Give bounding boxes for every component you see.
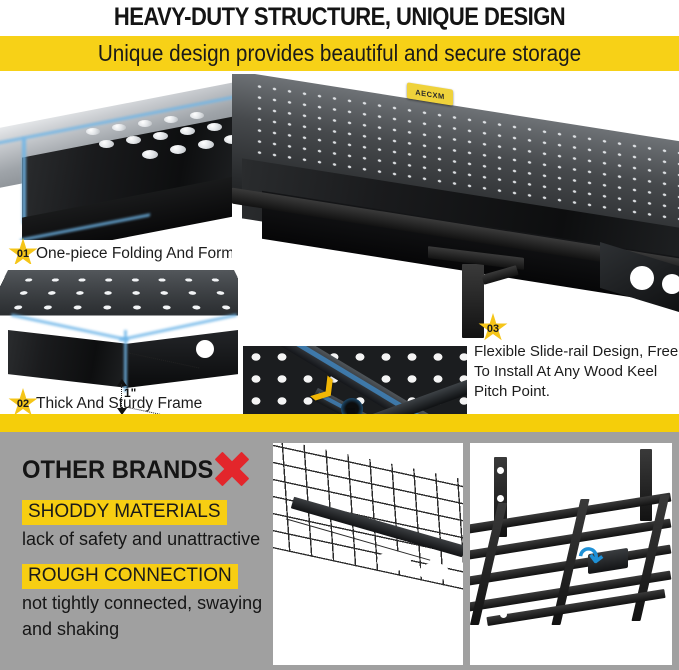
page-subtitle: Unique design provides beautiful and sec…	[34, 36, 645, 71]
comparison-heading-2: ROUGH CONNECTION	[22, 564, 238, 589]
feature-label-02: Thick And Sturdy Frame	[36, 395, 202, 413]
feature-label-01: One-piece Folding And Forming	[36, 245, 255, 263]
feature-label-03: Flexible Slide-rail Design, Free To Inst…	[474, 342, 679, 402]
infographic-page: HEAVY-DUTY STRUCTURE, UNIQUE DESIGN Uniq…	[0, 0, 679, 670]
photo-other-brand-mesh	[273, 443, 463, 665]
comparison-description-1: lack of safety and unattractive	[22, 529, 260, 550]
comparison-heading-1: SHODDY MATERIALS	[22, 500, 227, 525]
sway-arrow-icon: ↷	[576, 539, 606, 577]
feature-photo-area: 01 One-piece Folding And Forming AECX	[0, 74, 679, 422]
comparison-description-2b: and shaking	[22, 619, 119, 640]
red-x-icon	[215, 452, 249, 486]
photo-main-shelf: AECXM	[232, 74, 679, 342]
page-title: HEAVY-DUTY STRUCTURE, UNIQUE DESIGN	[41, 2, 639, 34]
photo-other-brand-frame: ↷	[470, 443, 672, 665]
section-divider	[0, 414, 679, 432]
comparison-description-2a: not tightly connected, swaying	[22, 593, 262, 614]
comparison-title: OTHER BRANDS	[22, 456, 213, 485]
photo-one-piece-channel	[0, 78, 238, 240]
